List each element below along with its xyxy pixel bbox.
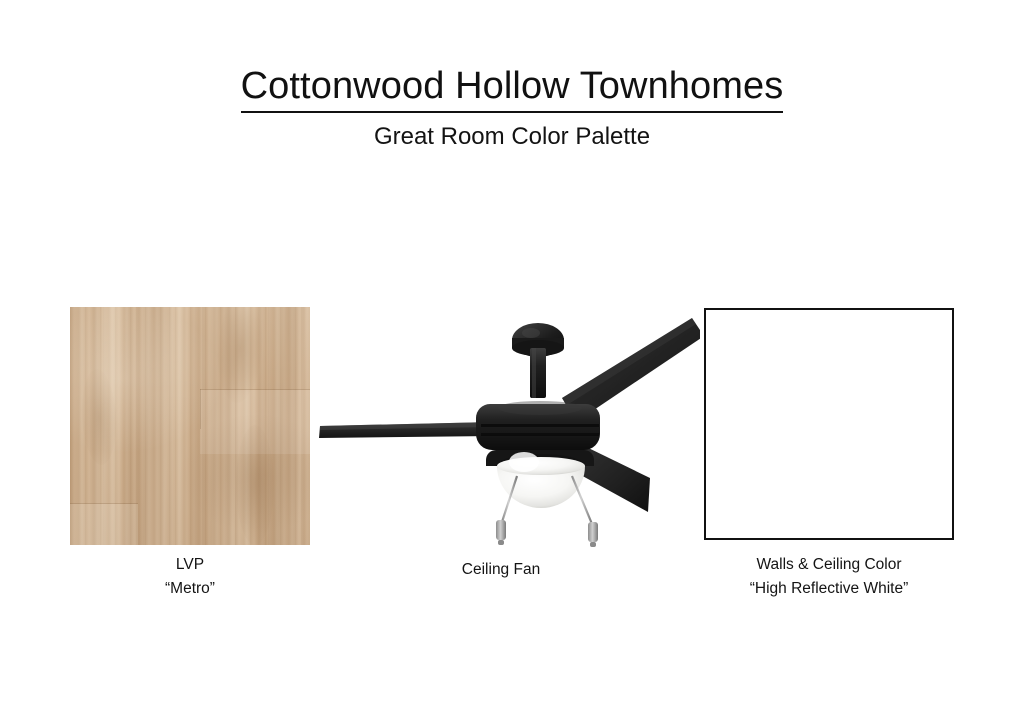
wall-color-caption: Walls & Ceiling Color “High Reflective W… — [690, 553, 968, 600]
wall-color-caption-line2: “High Reflective White” — [690, 577, 968, 601]
fan-pull-chain-right — [572, 476, 598, 547]
wood-shading-layer — [70, 307, 310, 545]
ceiling-fan-caption-line1: Ceiling Fan — [416, 558, 586, 582]
lvp-caption-line1: LVP — [70, 553, 310, 577]
lvp-caption: LVP “Metro” — [70, 553, 310, 600]
ceiling-fan-caption: Ceiling Fan — [416, 558, 586, 582]
page-title: Cottonwood Hollow Townhomes — [241, 64, 784, 113]
board-header: Cottonwood Hollow Townhomes Great Room C… — [0, 64, 1024, 152]
wall-color-caption-line1: Walls & Ceiling Color — [690, 553, 968, 577]
color-palette-board: Cottonwood Hollow Townhomes Great Room C… — [0, 0, 1024, 712]
lvp-flooring-swatch — [70, 307, 310, 545]
lvp-caption-line2: “Metro” — [70, 577, 310, 601]
palette-item-ceiling-fan: Ceiling Fan — [310, 300, 700, 550]
page-subtitle: Great Room Color Palette — [0, 123, 1024, 152]
wall-color-swatch — [704, 308, 954, 540]
palette-item-wall-color: Walls & Ceiling Color “High Reflective W… — [704, 308, 954, 540]
palette-row: LVP “Metro” — [0, 300, 1024, 620]
ceiling-fan-image — [310, 300, 700, 550]
palette-item-lvp: LVP “Metro” — [70, 307, 310, 545]
